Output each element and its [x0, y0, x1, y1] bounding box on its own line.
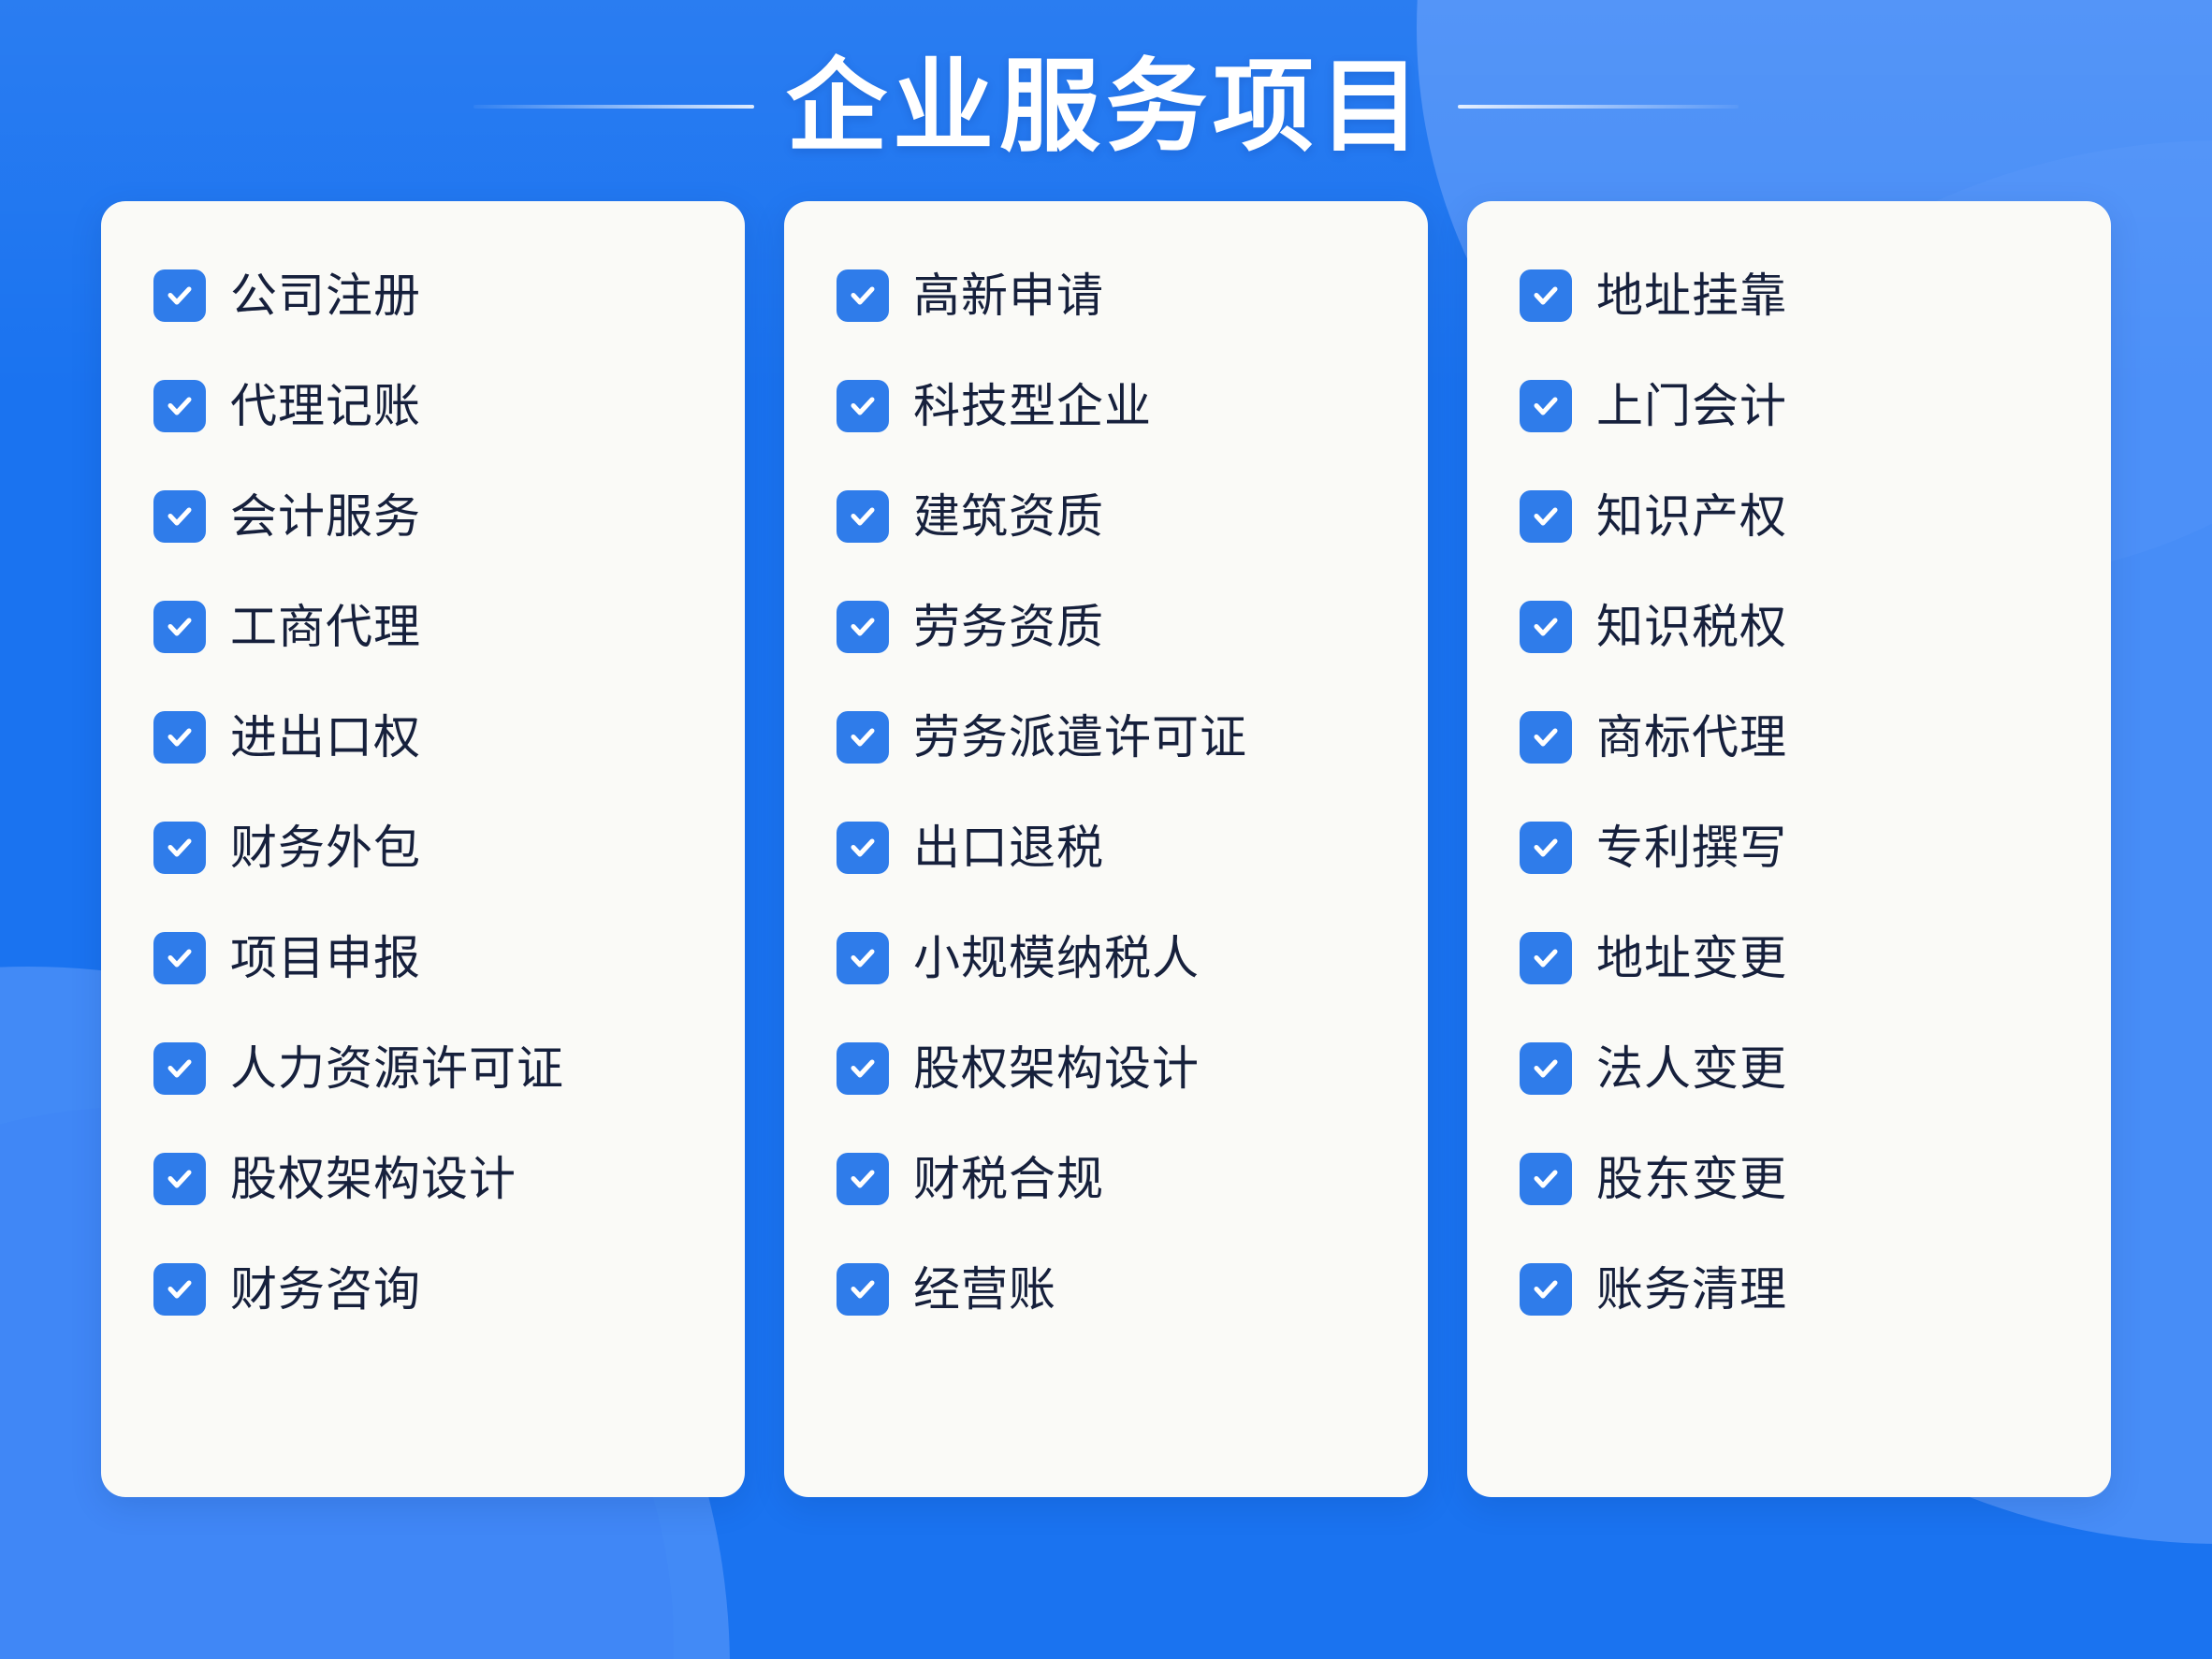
list-item[interactable]: 高新申请 [816, 240, 1396, 351]
check-icon[interactable] [153, 380, 206, 432]
check-icon[interactable] [1520, 1153, 1572, 1205]
service-card-column-3: 地址挂靠 上门会计 知识产权 知识税权 商标代理 [1467, 201, 2111, 1497]
poster-root: 企业服务项目 公司注册 代理记账 会计服务 工 [0, 0, 2212, 1659]
list-item[interactable]: 地址挂靠 [1499, 240, 2079, 351]
list-item[interactable]: 建筑资质 [816, 461, 1396, 572]
list-item[interactable]: 人力资源许可证 [133, 1013, 713, 1124]
check-icon[interactable] [1520, 601, 1572, 653]
service-list-2: 高新申请 科技型企业 建筑资质 劳务资质 劳务派遣许可证 [816, 240, 1396, 1460]
list-item-label: 小规模纳税人 [913, 934, 1200, 983]
list-item[interactable]: 商标代理 [1499, 682, 2079, 793]
list-item-label: 工商代理 [230, 603, 421, 652]
list-item-label: 账务清理 [1596, 1265, 1787, 1315]
service-columns: 公司注册 代理记账 会计服务 工商代理 进出口权 [101, 201, 2111, 1497]
list-item-label: 知识税权 [1596, 603, 1787, 652]
list-item-label: 建筑资质 [913, 492, 1104, 542]
list-item-label: 法人变更 [1596, 1044, 1787, 1094]
check-icon[interactable] [837, 822, 889, 874]
list-item[interactable]: 财务咨询 [133, 1234, 713, 1345]
list-item[interactable]: 科技型企业 [816, 351, 1396, 461]
list-item[interactable]: 进出口权 [133, 682, 713, 793]
check-icon[interactable] [153, 1042, 206, 1095]
list-item-label: 财务外包 [230, 823, 421, 873]
list-item-label: 经营账 [913, 1265, 1056, 1315]
list-item-label: 进出口权 [230, 713, 421, 763]
title-rule-right [1458, 105, 1739, 109]
list-item[interactable]: 出口退税 [816, 793, 1396, 903]
list-item-label: 会计服务 [230, 492, 421, 542]
list-item-label: 股权架构设计 [230, 1155, 517, 1204]
check-icon[interactable] [837, 601, 889, 653]
check-icon[interactable] [837, 1263, 889, 1316]
list-item[interactable]: 劳务派遣许可证 [816, 682, 1396, 793]
list-item[interactable]: 知识税权 [1499, 572, 2079, 682]
check-icon[interactable] [153, 1263, 206, 1316]
check-icon[interactable] [1520, 822, 1572, 874]
list-item-label: 地址变更 [1596, 934, 1787, 983]
list-item[interactable]: 股权架构设计 [816, 1013, 1396, 1124]
list-item-label: 劳务资质 [913, 603, 1104, 652]
list-item-label: 人力资源许可证 [230, 1044, 564, 1094]
check-icon[interactable] [1520, 269, 1572, 322]
list-item-label: 上门会计 [1596, 382, 1787, 431]
list-item[interactable]: 小规模纳税人 [816, 903, 1396, 1013]
service-card-column-1: 公司注册 代理记账 会计服务 工商代理 进出口权 [101, 201, 745, 1497]
check-icon[interactable] [1520, 380, 1572, 432]
check-icon[interactable] [1520, 1042, 1572, 1095]
list-item[interactable]: 会计服务 [133, 461, 713, 572]
check-icon[interactable] [1520, 1263, 1572, 1316]
check-icon[interactable] [837, 1042, 889, 1095]
list-item[interactable]: 劳务资质 [816, 572, 1396, 682]
service-list-3: 地址挂靠 上门会计 知识产权 知识税权 商标代理 [1499, 240, 2079, 1460]
list-item-label: 出口退税 [913, 823, 1104, 873]
title-rule-left [473, 105, 754, 109]
check-icon[interactable] [837, 932, 889, 984]
list-item-label: 高新申请 [913, 271, 1104, 321]
list-item[interactable]: 工商代理 [133, 572, 713, 682]
list-item[interactable]: 上门会计 [1499, 351, 2079, 461]
list-item[interactable]: 公司注册 [133, 240, 713, 351]
list-item-label: 科技型企业 [913, 382, 1152, 431]
check-icon[interactable] [153, 711, 206, 764]
check-icon[interactable] [837, 380, 889, 432]
list-item[interactable]: 股东变更 [1499, 1124, 2079, 1234]
list-item[interactable]: 地址变更 [1499, 903, 2079, 1013]
list-item[interactable]: 知识产权 [1499, 461, 2079, 572]
list-item-label: 专利撰写 [1596, 823, 1787, 873]
list-item-label: 股权架构设计 [913, 1044, 1200, 1094]
check-icon[interactable] [153, 932, 206, 984]
list-item-label: 公司注册 [230, 271, 421, 321]
check-icon[interactable] [837, 711, 889, 764]
list-item-label: 项目申报 [230, 934, 421, 983]
list-item[interactable]: 经营账 [816, 1234, 1396, 1345]
page-header: 企业服务项目 [0, 41, 2212, 172]
check-icon[interactable] [1520, 490, 1572, 543]
check-icon[interactable] [837, 1153, 889, 1205]
list-item[interactable]: 代理记账 [133, 351, 713, 461]
list-item[interactable]: 项目申报 [133, 903, 713, 1013]
service-card-column-2: 高新申请 科技型企业 建筑资质 劳务资质 劳务派遣许可证 [784, 201, 1428, 1497]
list-item-label: 商标代理 [1596, 713, 1787, 763]
list-item-label: 财税合规 [913, 1155, 1104, 1204]
list-item-label: 财务咨询 [230, 1265, 421, 1315]
list-item-label: 股东变更 [1596, 1155, 1787, 1204]
check-icon[interactable] [153, 490, 206, 543]
list-item[interactable]: 财务外包 [133, 793, 713, 903]
check-icon[interactable] [153, 1153, 206, 1205]
list-item[interactable]: 财税合规 [816, 1124, 1396, 1234]
check-icon[interactable] [153, 269, 206, 322]
list-item-label: 代理记账 [230, 382, 421, 431]
list-item-label: 知识产权 [1596, 492, 1787, 542]
service-list-1: 公司注册 代理记账 会计服务 工商代理 进出口权 [133, 240, 713, 1460]
check-icon[interactable] [1520, 711, 1572, 764]
page-title: 企业服务项目 [786, 56, 1426, 157]
check-icon[interactable] [837, 490, 889, 543]
list-item[interactable]: 股权架构设计 [133, 1124, 713, 1234]
check-icon[interactable] [1520, 932, 1572, 984]
list-item-label: 劳务派遣许可证 [913, 713, 1247, 763]
check-icon[interactable] [153, 822, 206, 874]
list-item[interactable]: 账务清理 [1499, 1234, 2079, 1345]
list-item[interactable]: 法人变更 [1499, 1013, 2079, 1124]
check-icon[interactable] [837, 269, 889, 322]
check-icon[interactable] [153, 601, 206, 653]
list-item[interactable]: 专利撰写 [1499, 793, 2079, 903]
list-item-label: 地址挂靠 [1596, 271, 1787, 321]
